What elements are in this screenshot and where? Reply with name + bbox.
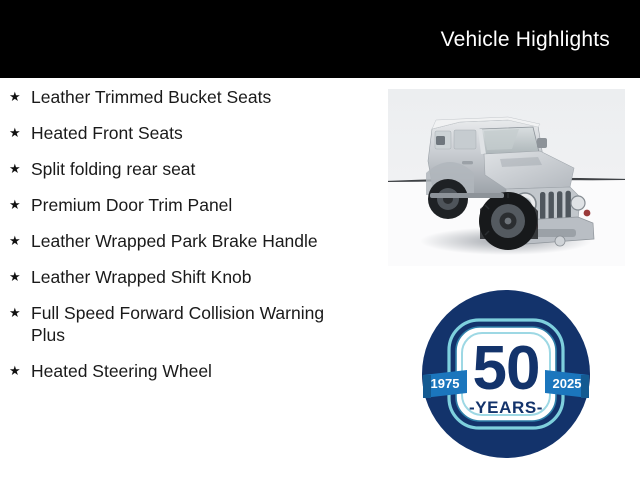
badge-end-year-text: 2025 (553, 376, 582, 391)
star-icon: ★ (9, 360, 31, 382)
vehicle-highlights-list: ★ Leather Trimmed Bucket Seats ★ Heated … (0, 86, 372, 396)
list-item: ★ Premium Door Trim Panel (0, 194, 372, 216)
fifty-years-anniversary-badge: 1975 2025 50 -YEARS- (421, 289, 591, 459)
list-item-label: Premium Door Trim Panel (31, 194, 372, 216)
list-item: ★ Heated Steering Wheel (0, 360, 372, 382)
star-icon: ★ (9, 230, 31, 252)
list-item-label: Full Speed Forward Collision Warning Plu… (31, 302, 372, 346)
list-item-label: Leather Wrapped Park Brake Handle (31, 230, 372, 252)
header-bar: Vehicle Highlights (0, 0, 640, 78)
page-title: Vehicle Highlights (441, 28, 610, 52)
list-item-label: Split folding rear seat (31, 158, 372, 180)
list-item-label: Leather Trimmed Bucket Seats (31, 86, 372, 108)
list-item-label: Leather Wrapped Shift Knob (31, 266, 372, 288)
list-item: ★ Leather Wrapped Shift Knob (0, 266, 372, 288)
list-item: ★ Full Speed Forward Collision Warning P… (0, 302, 372, 346)
list-item: ★ Leather Trimmed Bucket Seats (0, 86, 372, 108)
star-icon: ★ (9, 194, 31, 216)
badge-start-year-text: 1975 (431, 376, 460, 391)
star-icon: ★ (9, 302, 31, 324)
list-item-label: Heated Steering Wheel (31, 360, 372, 382)
star-icon: ★ (9, 266, 31, 288)
list-item: ★ Heated Front Seats (0, 122, 372, 144)
star-icon: ★ (9, 158, 31, 180)
list-item-label: Heated Front Seats (31, 122, 372, 144)
star-icon: ★ (9, 122, 31, 144)
list-item: ★ Leather Wrapped Park Brake Handle (0, 230, 372, 252)
vehicle-photo (388, 89, 625, 266)
badge-years-label-text: -YEARS- (469, 398, 543, 417)
badge-number-text: 50 (473, 334, 540, 403)
star-icon: ★ (9, 86, 31, 108)
vehicle-highlights-page: Vehicle Highlights ★ Leather Trimmed Buc… (0, 0, 640, 480)
list-item: ★ Split folding rear seat (0, 158, 372, 180)
